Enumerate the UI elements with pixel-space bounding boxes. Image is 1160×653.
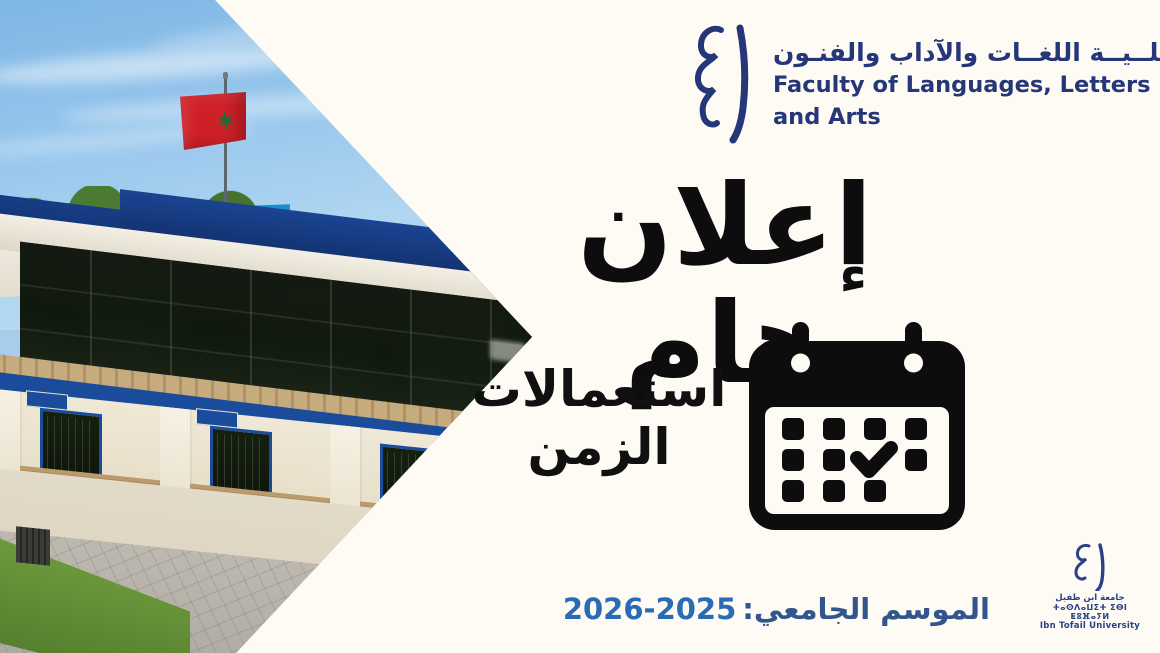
faculty-logo-text: كلــيــة اللغــات والآداب والفنـون Facul… <box>773 37 1160 131</box>
faculty-name-arabic: كلــيــة اللغــات والآداب والفنـون <box>773 37 1160 68</box>
photo-canvas: ✶ <box>0 0 540 653</box>
faculty-name-english-line2: and Arts <box>773 104 1160 131</box>
flag-star-icon: ✶ <box>213 107 239 137</box>
faculty-calligraphy-mark <box>683 24 757 144</box>
faculty-building-photo: ✶ <box>0 0 540 653</box>
university-name-english: Ibn Tofail University <box>1038 621 1142 631</box>
calendar-check-icon <box>744 322 970 534</box>
announcement-banner: ✶ <box>0 0 1160 653</box>
trash-bin <box>16 526 50 566</box>
university-name-arabic: جامعة ابن طفيل <box>1038 593 1142 603</box>
subtitle: استعمالات الزمن <box>470 360 728 476</box>
ibn-tofail-calligraphy-mark <box>1067 543 1113 591</box>
academic-season: الموسم الجامعي:2026-2025 <box>520 592 990 626</box>
university-logo: جامعة ابن طفيل ⵜⴰⵙⴷⴰⵡⵉⵜ ⵉⴱⵏ ⵟⵓⴼⴰⵢⵍ Ibn T… <box>1038 543 1142 631</box>
faculty-name-english-line1: Faculty of Languages, Letters <box>773 72 1160 99</box>
university-name-tifinagh: ⵜⴰⵙⴷⴰⵡⵉⵜ ⵉⴱⵏ ⵟⵓⴼⴰⵢⵍ <box>1038 603 1142 621</box>
academic-season-year: 2026-2025 <box>563 592 736 626</box>
faculty-logo: كلــيــة اللغــات والآداب والفنـون Facul… <box>683 24 1160 144</box>
subtitle-line-2: الزمن <box>470 418 728 476</box>
subtitle-line-1: استعمالات <box>470 360 728 418</box>
academic-season-label: الموسم الجامعي: <box>742 592 990 626</box>
